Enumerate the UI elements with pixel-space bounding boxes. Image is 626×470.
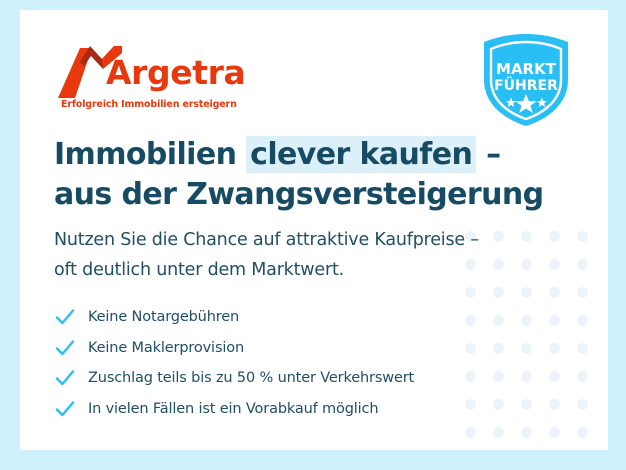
subtitle-line-1: Nutzen Sie die Chance auf attraktive Kau…: [54, 230, 479, 250]
list-item-label: Keine Maklerprovision: [88, 340, 244, 356]
decorative-dot: [465, 371, 476, 382]
decorative-dot: [521, 343, 532, 354]
decorative-dot: [521, 287, 532, 298]
decorative-dot: [521, 231, 532, 242]
decorative-dot: [577, 343, 588, 354]
subtitle-line-2: oft deutlich unter dem Marktwert.: [54, 260, 344, 280]
list-item: Keine Notargebühren: [54, 302, 414, 332]
badge-line2: FÜHRER: [494, 76, 558, 94]
logo-lockup: Argetra: [58, 42, 238, 98]
decorative-dot: [493, 315, 504, 326]
decorative-dot: [577, 399, 588, 410]
headline-line-2: aus der Zwangsversteigerung: [54, 177, 544, 212]
decorative-dot: [577, 231, 588, 242]
check-icon: [54, 306, 76, 328]
decorative-dot: [465, 343, 476, 354]
decorative-dot: [493, 399, 504, 410]
headline-highlight: clever kaufen: [246, 136, 476, 173]
decorative-dot: [521, 427, 532, 438]
list-item: In vielen Fällen ist ein Vorabkauf mögli…: [54, 394, 414, 424]
logo-tagline: Erfolgreich Immobilien ersteigern: [61, 99, 238, 110]
decorative-dot: [493, 287, 504, 298]
decorative-dot: [577, 371, 588, 382]
decorative-dot: [465, 399, 476, 410]
decorative-dot: [577, 287, 588, 298]
decorative-dot: [549, 343, 560, 354]
brand-logo[interactable]: Argetra Erfolgreich Immobilien ersteiger…: [58, 42, 238, 110]
banner-card: Argetra Erfolgreich Immobilien ersteiger…: [20, 10, 608, 450]
decorative-dot: [577, 259, 588, 270]
decorative-dot: [549, 231, 560, 242]
check-icon: [54, 337, 76, 359]
list-item: Keine Maklerprovision: [54, 333, 414, 363]
decorative-dot: [493, 427, 504, 438]
badge-line1: MARKT: [496, 60, 557, 78]
decorative-dot: [493, 371, 504, 382]
decorative-dot: [465, 287, 476, 298]
decorative-dot: [493, 343, 504, 354]
list-item-label: In vielen Fällen ist ein Vorabkauf mögli…: [88, 401, 378, 417]
shield-badge-icon: MARKT FÜHRER: [480, 32, 572, 128]
headline-part-2: –: [476, 137, 500, 172]
decorative-dot: [549, 259, 560, 270]
decorative-dot: [493, 231, 504, 242]
benefits-list: Keine NotargebührenKeine Maklerprovision…: [54, 302, 414, 424]
decorative-dot: [577, 315, 588, 326]
check-icon: [54, 398, 76, 420]
list-item-label: Keine Notargebühren: [88, 309, 239, 325]
decorative-dot: [493, 259, 504, 270]
decorative-dot: [549, 399, 560, 410]
decorative-dot: [521, 371, 532, 382]
market-leader-badge: MARKT FÜHRER: [480, 32, 572, 128]
subtitle: Nutzen Sie die Chance auf attraktive Kau…: [54, 225, 479, 285]
decorative-dot: [549, 371, 560, 382]
check-icon: [54, 367, 76, 389]
promo-banner: Argetra Erfolgreich Immobilien ersteiger…: [0, 0, 626, 470]
decorative-dot: [549, 427, 560, 438]
decorative-dot: [521, 315, 532, 326]
decorative-dot: [465, 427, 476, 438]
decorative-dot: [549, 315, 560, 326]
decorative-dot: [521, 399, 532, 410]
decorative-dot: [549, 287, 560, 298]
decorative-dot: [521, 259, 532, 270]
list-item-label: Zuschlag teils bis zu 50 % unter Verkehr…: [88, 370, 414, 386]
logo-wordmark: Argetra: [106, 54, 245, 92]
headline-part-1: Immobilien: [54, 137, 246, 172]
decorative-dot: [465, 315, 476, 326]
list-item: Zuschlag teils bis zu 50 % unter Verkehr…: [54, 363, 414, 393]
decorative-dot: [577, 427, 588, 438]
page-title: Immobilien clever kaufen – aus der Zwang…: [54, 135, 544, 215]
